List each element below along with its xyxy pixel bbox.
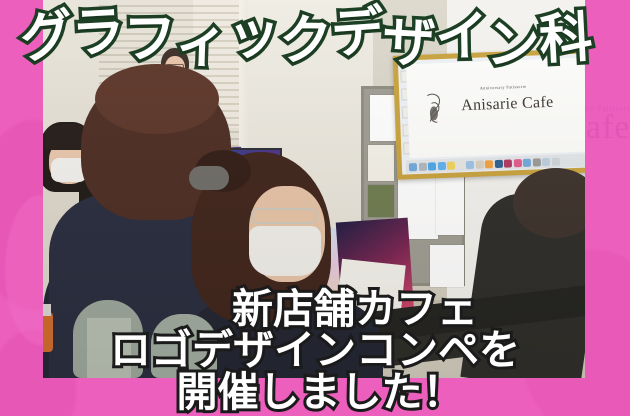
photoshop-icon [494,159,502,167]
appstore-icon [523,158,531,166]
folder-icon [542,157,550,165]
finder-icon [409,163,417,171]
headline-char: ィ [174,15,228,71]
calendar-icon [456,161,464,169]
notes-icon [447,161,455,169]
caption-line-1: 新店舗カフェ [0,289,630,331]
banner-image: Anniversary Patisserie e Cafe [0,0,630,416]
headline-char: ラ [70,5,125,62]
slide-subtitle: Anniversary Patisserie [480,84,527,91]
headline-title: グラフィックデザイン科 [20,4,569,58]
headline-char: ザ [381,15,436,72]
headline-char: グ [18,7,75,66]
cafe-logo-icon [423,91,446,126]
headline-char: 科 [538,11,593,68]
illustrator-icon [485,160,493,168]
safari-icon [428,162,436,170]
student-hair-highlight [95,64,219,134]
posted-photo [368,185,394,217]
mail-icon [437,161,445,169]
glasses-icon [251,208,317,224]
headline-char: イ [435,10,488,65]
posted-paper [370,95,396,141]
slide-brand-title: Anisarie Cafe [461,94,554,116]
trash-icon [551,157,559,165]
face-mask-icon [249,226,321,276]
caption-block: 新店舗カフェ ロゴデザインコンペを 開催しました！ [0,289,630,414]
headline-char: ッ [227,7,281,63]
indesign-icon [504,159,512,167]
headline-char: デ [330,4,386,62]
music-icon [513,159,521,167]
photos-icon [466,160,474,168]
headline-char: フ [123,12,176,67]
hair-scrunchie [189,166,229,190]
headline-char: ン [486,17,540,73]
posted-paper [436,175,464,235]
caption-line-3: 開催しました！ [0,372,630,414]
preview-icon [475,160,483,168]
posted-paper [368,145,394,181]
launchpad-icon [418,162,426,170]
headline-char: ク [279,14,332,69]
settings-icon [532,158,540,166]
caption-line-2: ロゴデザインコンペを [0,330,630,372]
posted-paper [430,245,464,287]
